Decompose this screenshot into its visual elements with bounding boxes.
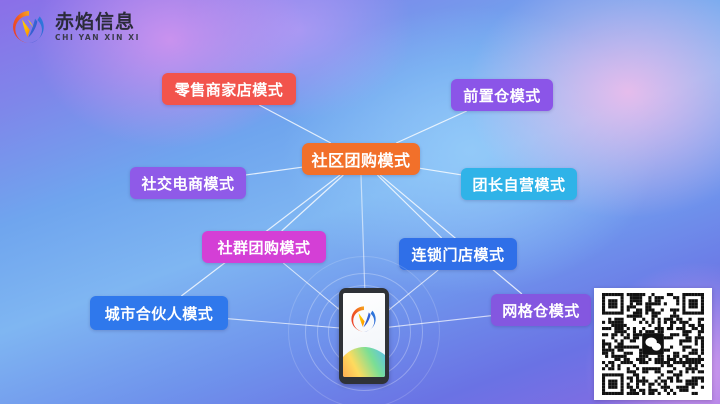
node-front-warehouse-mode[interactable]: 前置仓模式 <box>451 79 553 111</box>
brand-subtitle: CHI YAN XIN XI <box>55 34 140 42</box>
node-grid-warehouse-mode[interactable]: 网格仓模式 <box>491 294 591 326</box>
connector-line <box>396 111 467 143</box>
node-label: 前置仓模式 <box>463 85 541 106</box>
connector-line <box>259 105 331 143</box>
node-social-ecommerce-mode[interactable]: 社交电商模式 <box>130 167 246 199</box>
node-label: 团长自营模式 <box>472 174 565 195</box>
phone-illustration <box>316 280 412 404</box>
smartphone-icon[interactable] <box>339 288 389 384</box>
infographic-canvas: 赤焰信息 CHI YAN XIN XI 社区团购模式零售商家店模式前置仓模式社交… <box>0 0 720 404</box>
node-community-group-buy-mode[interactable]: 社群团购模式 <box>202 231 326 263</box>
connector-line <box>246 167 302 175</box>
node-label: 社交电商模式 <box>141 173 234 194</box>
rainbow-streak <box>343 340 385 377</box>
chiyan-flame-ring-logo-icon <box>10 8 48 46</box>
chiyan-flame-ring-logo-icon <box>349 304 379 334</box>
node-retail-merchant-store-mode[interactable]: 零售商家店模式 <box>162 73 296 105</box>
connector-line <box>377 175 441 238</box>
node-label: 连锁门店模式 <box>411 244 504 265</box>
node-label: 城市合伙人模式 <box>105 303 214 324</box>
wechat-qr-code[interactable] <box>594 288 712 400</box>
brand-title: 赤焰信息 <box>55 13 140 32</box>
node-leader-self-run-mode[interactable]: 团长自营模式 <box>461 168 577 200</box>
phone-screen <box>343 293 385 377</box>
node-label: 零售商家店模式 <box>175 79 284 100</box>
node-label: 社区团购模式 <box>312 147 411 171</box>
brand-text: 赤焰信息 CHI YAN XIN XI <box>55 13 140 42</box>
node-city-partner-mode[interactable]: 城市合伙人模式 <box>90 296 228 330</box>
connector-line <box>282 175 344 231</box>
brand-logo: 赤焰信息 CHI YAN XIN XI <box>10 8 140 46</box>
node-label: 社群团购模式 <box>217 237 310 258</box>
center-node[interactable]: 社区团购模式 <box>302 143 420 175</box>
node-chain-store-mode[interactable]: 连锁门店模式 <box>399 238 517 270</box>
node-label: 网格仓模式 <box>502 300 580 321</box>
connector-line <box>420 168 461 174</box>
qr-matrix <box>599 293 707 395</box>
